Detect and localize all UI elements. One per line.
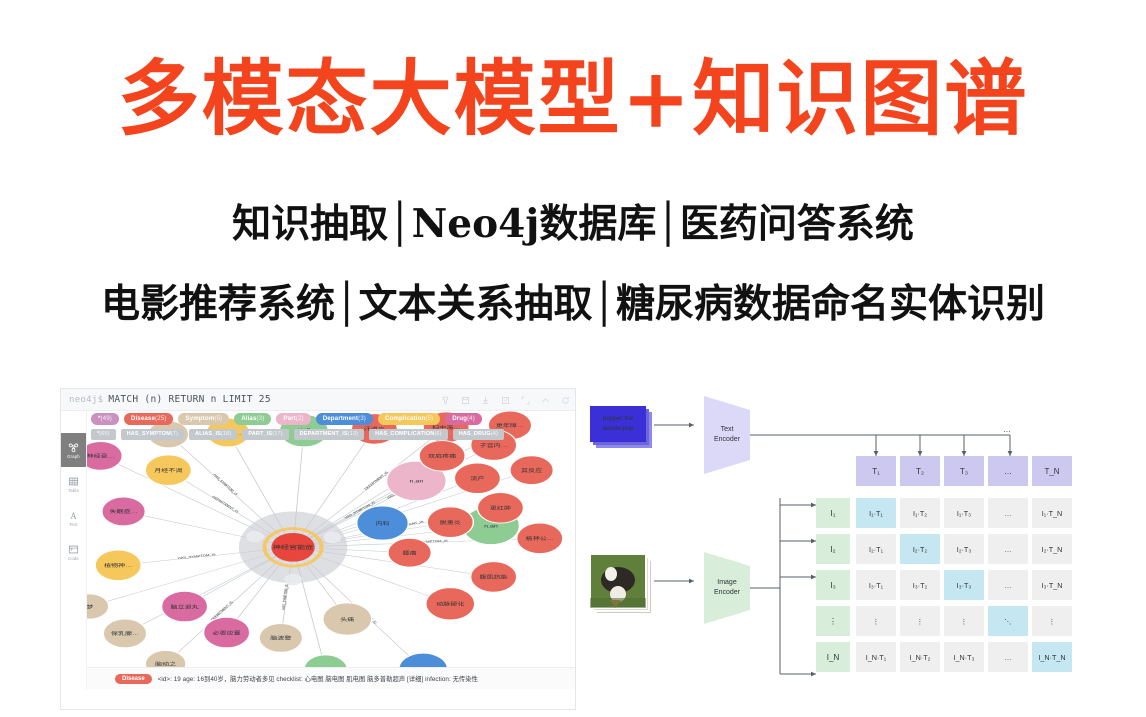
image-embedding-label: I₂: [830, 545, 835, 554]
similarity-cell: ⋮: [1032, 606, 1072, 636]
similarity-cell: I₂·T₂: [900, 534, 940, 564]
similarity-cell-label: ⋮: [916, 617, 923, 626]
text-embedding-header-cell: T₂: [900, 456, 940, 486]
legend-chips: *(49)Disease(25)Symptom(5)Alias(3)Part(2…: [91, 413, 573, 444]
svg-text:aussie pup: aussie pup: [603, 425, 634, 432]
similarity-cell: I₃·T_N: [1032, 570, 1072, 600]
sidebar-label-table: Table: [68, 488, 79, 493]
similarity-cell-label: I₃·T₃: [957, 581, 972, 590]
graph-node-label: n.an: [484, 524, 498, 529]
svg-text:Text: Text: [721, 426, 734, 433]
similarity-cell: I₁·T₃: [944, 498, 984, 528]
text-icon: A: [68, 510, 79, 521]
similarity-cell-label: I₁·T₁: [869, 509, 883, 518]
relationship-type-chip[interactable]: *(65): [91, 429, 116, 440]
similarity-cell-label: ⋮: [872, 617, 879, 626]
similarity-cell: …: [988, 570, 1028, 600]
refresh-icon[interactable]: [561, 396, 570, 405]
sidebar-label-graph: Graph: [67, 454, 80, 459]
graph-node-label: 其反应: [521, 467, 542, 473]
node-label-chip-row: *(49)Disease(25)Symptom(5)Alias(3)Part(2…: [91, 413, 573, 425]
similarity-cell: ⋮: [900, 606, 940, 636]
graph-node-label: 植物神…: [104, 562, 132, 568]
graph-svg: HAS_SYMPTOM_ISDEPARTMENT_ISHAS_SYMPTOM_I…: [87, 411, 575, 689]
graph-node[interactable]: 脱重炎: [427, 507, 473, 537]
graph-node[interactable]: 植物神…: [95, 550, 141, 580]
graph-node-label: n.an: [410, 480, 424, 485]
sidebar-item-code[interactable]: Code: [61, 535, 86, 569]
similarity-cell: I₁·T₁: [856, 498, 896, 528]
save-icon[interactable]: [461, 396, 470, 405]
text-embedding-header-cell: T_N: [1032, 456, 1072, 486]
similarity-cell-label: …: [1004, 509, 1011, 518]
graph-edge: [125, 547, 293, 633]
similarity-cell-label: …: [1004, 545, 1011, 554]
text-input-card-stack: pepper the aussie pup: [590, 406, 652, 448]
graph-node-label: 梦: [87, 604, 93, 609]
similarity-cell: I₃·T₃: [944, 570, 984, 600]
graph-node[interactable]: 内科: [357, 506, 409, 540]
graph-node[interactable]: 腹肌抗能: [471, 562, 517, 592]
similarity-cell-label: I₁·T₂: [913, 509, 927, 518]
graph-node[interactable]: 其反应: [510, 456, 553, 485]
node-detail-statusbar: Disease <id>: 19 age: 16到40岁，脑力劳动者多见 che…: [87, 667, 575, 689]
node-label-chip[interactable]: Part(2): [276, 413, 310, 425]
graph-node-label: 保乳腺…: [111, 631, 139, 637]
similarity-cell-label: ⋮: [960, 617, 967, 626]
text-fanout-connectors: [750, 435, 1010, 456]
fullscreen-icon[interactable]: [521, 396, 530, 405]
similarity-cell: I₂·T₃: [944, 534, 984, 564]
graph-node[interactable]: 腰痛: [388, 538, 431, 567]
svg-text:A: A: [70, 510, 77, 520]
similarity-cell: ⋮: [944, 606, 984, 636]
status-badge: Disease: [115, 674, 152, 684]
cypher-query-text[interactable]: MATCH (n) RETURN n LIMIT 25: [103, 394, 271, 405]
similarity-cell: I₂·T₁: [856, 534, 896, 564]
image-embedding-label-cell: I₂: [816, 534, 850, 564]
subtitle-line-2: 电影推荐系统│文本关系抽取│糖尿病数据命名实体识别: [0, 283, 1146, 326]
expand-pane-icon[interactable]: [501, 396, 510, 405]
node-label-chip[interactable]: Drug(4): [445, 413, 482, 425]
clip-svg: pepper the aussie pup Text Encoder: [580, 388, 1132, 710]
graph-visualization[interactable]: HAS_SYMPTOM_ISDEPARTMENT_ISHAS_SYMPTOM_I…: [87, 411, 575, 689]
subtitle-line-1: 知识抽取│Neo4j数据库│医药问答系统: [0, 203, 1146, 246]
graph-node[interactable]: 失眠症…: [102, 497, 145, 526]
image-input-photo-stack: [590, 554, 652, 614]
similarity-cell-label: I₁·T₃: [957, 509, 971, 518]
sidebar-item-text[interactable]: A Text: [61, 501, 86, 535]
graph-node-label: 植神公…: [526, 535, 554, 541]
svg-text:pepper the: pepper the: [603, 415, 634, 422]
relationship-type-chip[interactable]: HAS_SYMPTOM(7): [121, 429, 184, 440]
graph-node[interactable]: 流产: [454, 463, 500, 493]
graph-node[interactable]: 月经不调: [145, 455, 191, 485]
graph-node-label: 内科: [375, 520, 389, 526]
relationship-type-chip-row: *(65)HAS_SYMPTOM(7)ALIAS_IS(18)PART_IS(1…: [91, 429, 573, 440]
node-label-chip[interactable]: Complication(5): [378, 413, 440, 425]
neo4j-browser-screenshot: neo4j$ MATCH (n) RETURN n LIMIT 25 G: [60, 388, 576, 710]
query-toolbar: [441, 389, 570, 411]
graph-node-label: 头痛: [340, 616, 354, 622]
graph-node-label: 月经不调: [154, 467, 182, 473]
similarity-cell: ⋮: [856, 606, 896, 636]
text-embedding-label: T₃: [960, 467, 968, 476]
text-embedding-label: T₁: [872, 467, 880, 476]
sidebar-label-text: Text: [69, 522, 77, 527]
graph-node[interactable]: 脑波整: [259, 624, 302, 653]
similarity-cell-label: I₃·T₂: [913, 581, 928, 590]
graph-node-label: 双肩疼痛: [428, 453, 456, 459]
similarity-cell-label: I_N·T₃: [954, 653, 975, 662]
graph-node-label: 脑立退丸: [171, 604, 199, 610]
pin-icon[interactable]: [441, 396, 450, 405]
node-label-chip[interactable]: Alias(3): [234, 413, 271, 425]
code-icon: [68, 544, 79, 555]
similarity-cell-label: I₃·T₁: [869, 581, 884, 590]
collapse-icon[interactable]: [541, 396, 550, 405]
similarity-cell-label: …: [1004, 653, 1011, 662]
graph-node-label: 腰痛: [403, 550, 417, 556]
node-properties-text: <id>: 19 age: 16到40岁，脑力劳动者多见 checklist: …: [158, 674, 478, 683]
graph-node[interactable]: 脑立退丸: [162, 591, 208, 621]
image-embedding-label: ⋮: [829, 617, 837, 626]
sidebar-label-code: Code: [68, 556, 79, 561]
neo4j-prompt: neo4j$: [61, 395, 103, 405]
relationship-type-chip[interactable]: ALIAS_IS(18): [189, 429, 237, 440]
graph-node-label: 脱重炎: [440, 519, 461, 525]
graph-node-label: 神经衰…: [87, 453, 115, 459]
similarity-cell: I_N·T₂: [900, 642, 940, 672]
clip-architecture-diagram: pepper the aussie pup Text Encoder: [580, 388, 1132, 710]
graph-edge-label: DEPARTMENT_IS: [211, 495, 240, 513]
graph-node-label: 脑波整: [270, 635, 291, 641]
text-embedding-label: T_N: [1044, 467, 1059, 476]
graph-node-label: 动脉硬化: [436, 601, 464, 607]
similarity-cell: I₂·T_N: [1032, 534, 1072, 564]
graph-node-label: 失眠症…: [110, 509, 138, 515]
text-encoder-block: Text Encoder: [704, 396, 750, 474]
node-label-chip[interactable]: Department(3): [316, 413, 373, 425]
relationship-type-chip[interactable]: PART_IS(17): [242, 429, 288, 440]
similarity-cell-label: I₂·T₂: [913, 545, 928, 554]
image-embedding-label: I₁: [831, 509, 836, 518]
similarity-cell: I_N·T₁: [856, 642, 896, 672]
graph-canvas[interactable]: HAS_SYMPTOM_ISDEPARTMENT_ISHAS_SYMPTOM_I…: [87, 411, 575, 689]
graph-node[interactable]: 双肩疼痛: [419, 441, 465, 471]
query-bar[interactable]: neo4j$ MATCH (n) RETURN n LIMIT 25: [61, 389, 575, 411]
similarity-cell: I₃·T₂: [900, 570, 940, 600]
graph-edge-label: HAS_SYMPTOM_IS: [177, 553, 216, 560]
graph-node[interactable]: 动脉硬化: [426, 588, 475, 620]
similarity-cell-label: I₁·T_N: [1042, 509, 1062, 518]
graph-node[interactable]: 梦: [87, 594, 109, 619]
similarity-cell-label: I_N·T₂: [910, 653, 931, 662]
text-embedding-header-cell: …: [988, 456, 1028, 486]
similarity-cell: …: [988, 642, 1028, 672]
graph-node-label: 更红肿: [490, 505, 511, 511]
graph-edge-label: HAS_SYMPTOM_IS: [212, 474, 239, 497]
similarity-cell-label: ⋱: [1004, 617, 1011, 626]
result-body: Graph Table A Text Code: [61, 411, 575, 689]
image-fanout-connectors: [750, 498, 816, 674]
poster-page: 多模态大模型+知识图谱 知识抽取│Neo4j数据库│医药问答系统 电影推荐系统│…: [0, 0, 1146, 717]
similarity-cell: …: [988, 534, 1028, 564]
similarity-cell: …: [988, 498, 1028, 528]
similarity-cell-label: …: [1004, 581, 1011, 590]
svg-text:Encoder: Encoder: [714, 589, 741, 596]
download-icon[interactable]: [481, 396, 490, 405]
graph-node[interactable]: 神经衰…: [87, 441, 122, 470]
text-embedding-header-cell: T₁: [856, 456, 896, 486]
image-embedding-label-cell: I_N: [816, 642, 850, 672]
image-embedding-label: I_N: [827, 653, 840, 662]
similarity-cell-label: ⋮: [1048, 617, 1055, 626]
graph-node-label: 腹肌抗能: [480, 574, 508, 580]
image-embedding-label-cell: ⋮: [816, 606, 850, 636]
graph-edge-label: DEPARTMENT_IS: [363, 471, 389, 491]
similarity-cell: I₃·T₁: [856, 570, 896, 600]
svg-text:Image: Image: [717, 579, 737, 586]
graph-node[interactable]: 头痛: [323, 603, 372, 635]
text-embedding-label: …: [1004, 467, 1012, 476]
screenshot-row: neo4j$ MATCH (n) RETURN n LIMIT 25 G: [0, 380, 1146, 717]
graph-edge: [293, 547, 326, 669]
relationship-type-chip[interactable]: HAS_DRUG(4): [453, 429, 504, 440]
graph-edge: [293, 431, 304, 548]
similarity-cell: I_N·T₃: [944, 642, 984, 672]
similarity-cell: I₁·T_N: [1032, 498, 1072, 528]
graph-node[interactable]: 保乳腺…: [103, 619, 146, 648]
relationship-type-chip[interactable]: DEPARTMENT_IS(13): [294, 429, 365, 440]
page-title: 多模态大模型+知识图谱: [0, 58, 1146, 140]
similarity-cell: ⋱: [988, 606, 1028, 636]
image-embedding-label-cell: I₃: [816, 570, 850, 600]
node-label-chip[interactable]: *(49): [91, 413, 119, 425]
image-embedding-label: I₃: [830, 581, 835, 590]
sidebar-item-table[interactable]: Table: [61, 467, 86, 501]
similarity-cell-label: I₂·T_N: [1042, 545, 1063, 554]
similarity-cell-label: I_N·T_N: [1038, 653, 1065, 662]
similarity-cell: I₁·T₂: [900, 498, 940, 528]
similarity-cell-label: I₂·T₁: [869, 545, 884, 554]
graph-edge: [228, 433, 293, 548]
node-label-chip[interactable]: Symptom(5): [178, 413, 229, 425]
result-view-switcher: Graph Table A Text Code: [61, 411, 87, 689]
graph-icon: [68, 442, 79, 453]
table-icon: [68, 476, 79, 487]
graph-node-label: 必要应置: [213, 630, 241, 636]
graph-node[interactable]: 更红肿: [477, 493, 523, 523]
image-encoder-block: Image Encoder: [704, 552, 750, 624]
graph-node[interactable]: 必要应置: [204, 617, 250, 647]
image-embedding-label-cell: I₁: [816, 498, 850, 528]
svg-text:…: …: [1003, 425, 1011, 434]
text-embedding-label: T₂: [916, 467, 924, 476]
svg-text:Encoder: Encoder: [714, 436, 741, 443]
relationship-type-chip[interactable]: HAS_COMPLICATION(6): [369, 429, 447, 440]
similarity-cell: I_N·T_N: [1032, 642, 1072, 672]
sidebar-item-graph[interactable]: Graph: [61, 433, 86, 467]
graph-edge-label: HAS_SYMPTOM_IS: [281, 584, 289, 610]
graph-node-label: 流产: [470, 475, 484, 481]
node-label-chip[interactable]: Disease(25): [124, 413, 174, 425]
graph-node[interactable]: 植神公…: [517, 523, 563, 553]
similarity-cell-label: I_N·T₁: [866, 653, 887, 662]
similarity-cell-label: I₂·T₃: [957, 545, 972, 554]
graph-edge: [124, 511, 293, 547]
similarity-cell-label: I₃·T_N: [1042, 581, 1063, 590]
text-embedding-header-cell: T₃: [944, 456, 984, 486]
